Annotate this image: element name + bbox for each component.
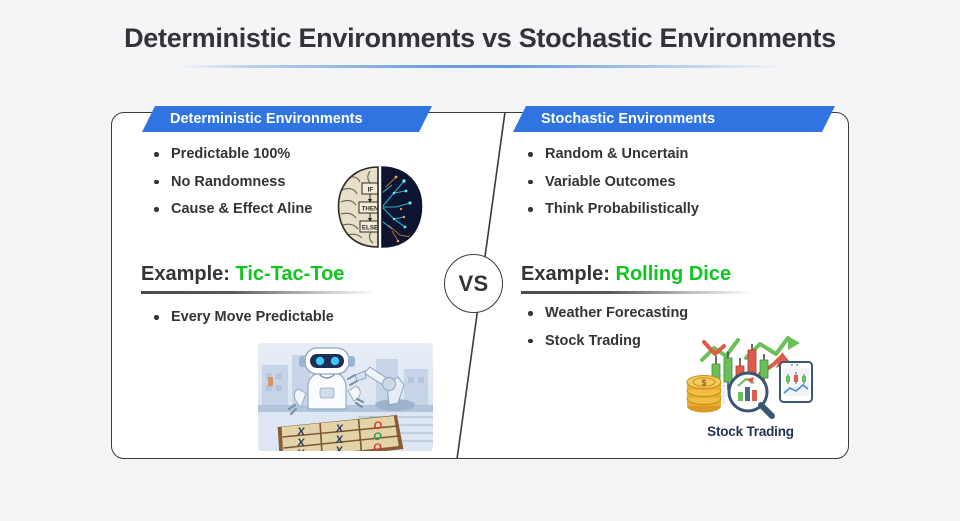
list-item: Random & Uncertain [524,146,834,163]
stock-illustration-caption: Stock Trading [684,424,817,439]
stock-trading-image: $ [684,332,817,422]
vs-badge: VS [444,254,503,313]
right-example-value: Rolling Dice [616,263,732,285]
title-underline-divider [180,65,780,68]
vs-label: VS [459,271,489,297]
left-sub-bullet-group: Every Move Predictable [150,309,430,337]
coin-dollar-label: $ [702,377,707,387]
split-brain-icon: IF THEN ELSE [332,163,428,251]
right-bullet-list: Random & Uncertain Variable Outcomes Thi… [524,146,834,218]
svg-text:ELSE: ELSE [362,224,378,231]
list-item: Predictable 100% [150,146,450,163]
left-example-line: Example: Tic-Tac-Toe [141,262,377,286]
svg-text:IF: IF [368,186,374,193]
right-example-line: Example: Rolling Dice [521,262,753,286]
banner-right-label: Stochastic Environments [541,111,715,127]
title-block: Deterministic Environments vs Stochastic… [0,24,960,68]
svg-text:THEN: THEN [362,205,379,212]
list-item: Every Move Predictable [150,309,430,326]
right-example-underline [521,291,753,294]
right-example-prefix: Example: [521,263,610,285]
left-sub-bullet-list: Every Move Predictable [150,309,430,326]
left-example-value: Tic-Tac-Toe [236,263,345,285]
left-example-block: Example: Tic-Tac-Toe [141,262,377,294]
left-example-underline [141,291,377,294]
svg-text:X: X [297,448,306,451]
left-example-prefix: Example: [141,263,230,285]
list-item: Variable Outcomes [524,174,834,191]
svg-text:X: X [335,445,344,451]
banner-deterministic: Deterministic Environments [142,106,432,132]
banner-left-label: Deterministic Environments [170,111,363,127]
list-item: Weather Forecasting [524,305,804,322]
list-item: Think Probabilistically [524,201,834,218]
svg-text:O: O [373,442,383,451]
right-column: Random & Uncertain Variable Outcomes Thi… [524,146,834,229]
right-example-block: Example: Rolling Dice [521,262,753,294]
banner-stochastic: Stochastic Environments [513,106,835,132]
robot-tic-tac-toe-image: X X O X X O X X O [258,343,433,451]
page-title: Deterministic Environments vs Stochastic… [0,24,960,54]
